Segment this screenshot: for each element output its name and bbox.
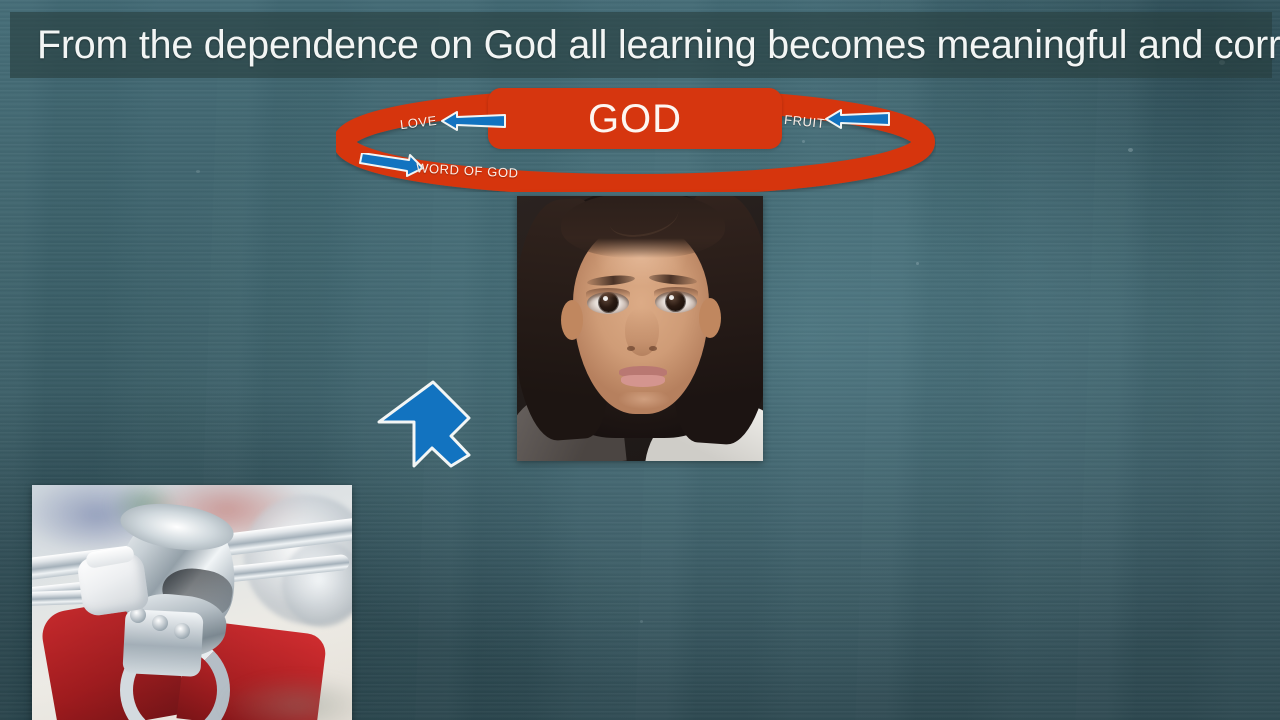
background-speck [1128,148,1133,152]
background-speck [916,262,919,265]
image-girl-portrait-content [517,196,763,461]
blue-arrow-southwest-icon [376,378,472,470]
god-label: GOD [588,98,682,140]
background-speck [640,620,643,623]
arrow-left-icon [823,108,891,130]
background-speck [196,170,200,173]
presentation-slide: From the dependence on God all learning … [0,0,1280,720]
arrow-left-icon [439,110,507,132]
god-cycle-diagram: GOD LOVE FRUIT WORD OF GOD [336,84,936,192]
image-brass-band [32,485,352,720]
image-brass-band-content [32,485,352,720]
slide-title-banner: From the dependence on God all learning … [10,12,1272,78]
god-center-box: GOD [488,88,782,149]
page-title: From the dependence on God all learning … [37,23,1280,67]
image-girl-portrait [517,196,763,461]
